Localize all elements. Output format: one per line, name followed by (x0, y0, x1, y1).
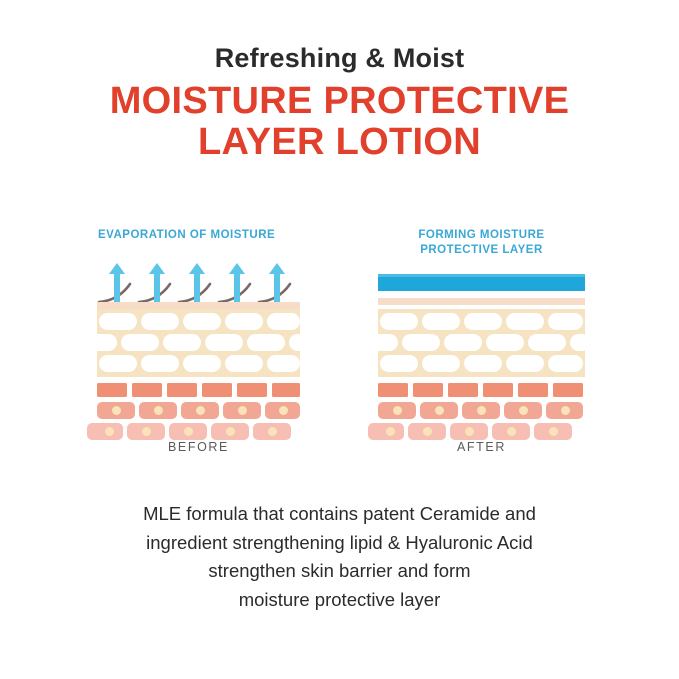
after-panel: FORMING MOISTURE PROTECTIVE LAYER (378, 228, 585, 434)
cell-nucleus (279, 406, 288, 415)
promo-page: Refreshing & Moist MOISTURE PROTECTIVE L… (0, 0, 679, 679)
cell-nucleus (423, 427, 432, 436)
granular-layer (97, 383, 300, 397)
salmon-cell (202, 383, 232, 397)
brick-cell (89, 334, 117, 351)
salmon-cell (272, 383, 300, 397)
brick-cell (183, 355, 221, 372)
skin-cell (127, 423, 165, 440)
after-caption: AFTER (378, 440, 585, 454)
brick-cell (183, 313, 221, 330)
brick-cell (267, 313, 300, 330)
brick-cell (506, 355, 544, 372)
cell-nucleus (561, 406, 570, 415)
title-line-1: MOISTURE PROTECTIVE (0, 81, 679, 122)
brick-cell (570, 334, 590, 351)
brick-cell (464, 355, 502, 372)
description-line-1: MLE formula that contains patent Ceramid… (0, 500, 679, 529)
brick-row (97, 355, 300, 372)
skin-surface-strip (378, 298, 585, 305)
skin-cell (450, 423, 488, 440)
skin-cell (420, 402, 458, 419)
brick-cell (141, 313, 179, 330)
spinous-layer (97, 402, 300, 419)
description-paragraph: MLE formula that contains patent Ceramid… (0, 500, 679, 615)
skin-cell (492, 423, 530, 440)
page-title: MOISTURE PROTECTIVE LAYER LOTION (0, 81, 679, 163)
salmon-cell (413, 383, 443, 397)
cell-nucleus (477, 406, 486, 415)
after-label: FORMING MOISTURE PROTECTIVE LAYER (378, 228, 585, 262)
before-panel: EVAPORATION OF MOISTURE (97, 228, 300, 434)
brick-cell (205, 334, 243, 351)
before-skin-diagram (97, 262, 300, 434)
cell-nucleus (238, 406, 247, 415)
moisture-barrier-bar (378, 274, 585, 291)
brick-cell (380, 313, 418, 330)
brick-cell (225, 355, 263, 372)
skin-cell (87, 423, 123, 440)
salmon-cell (448, 383, 478, 397)
brick-cell (99, 313, 137, 330)
skin-cell (211, 423, 249, 440)
skin-cell (169, 423, 207, 440)
description-line-3: strengthen skin barrier and form (0, 557, 679, 586)
brick-cell (548, 313, 583, 330)
skin-cell (253, 423, 291, 440)
brick-row (378, 313, 585, 330)
brick-cell (370, 334, 398, 351)
skin-cell (139, 402, 177, 419)
skin-cell (181, 402, 219, 419)
after-label-line-2: PROTECTIVE LAYER (378, 243, 585, 258)
brick-cell (528, 334, 566, 351)
spinous-layer (378, 402, 585, 419)
basal-layer (378, 423, 585, 440)
cell-nucleus (142, 427, 151, 436)
brick-cell (225, 313, 263, 330)
brick-cell (464, 313, 502, 330)
cell-nucleus (519, 406, 528, 415)
brick-row (378, 355, 585, 372)
cell-nucleus (196, 406, 205, 415)
cell-nucleus (435, 406, 444, 415)
brick-cell (247, 334, 285, 351)
cell-nucleus (184, 427, 193, 436)
description-line-2: ingredient strengthening lipid & Hyaluro… (0, 529, 679, 558)
brick-cell (99, 355, 137, 372)
cell-nucleus (465, 427, 474, 436)
cell-nucleus (507, 427, 516, 436)
salmon-cell (237, 383, 267, 397)
brick-cell (506, 313, 544, 330)
brick-cell (289, 334, 309, 351)
salmon-cell (518, 383, 548, 397)
skin-cell (408, 423, 446, 440)
salmon-cell (132, 383, 162, 397)
brick-cell (380, 355, 418, 372)
skin-cell (546, 402, 583, 419)
title-line-2: LAYER LOTION (0, 122, 679, 163)
brick-row (97, 313, 300, 330)
brick-cell (141, 355, 179, 372)
salmon-cell (483, 383, 513, 397)
brick-row (97, 334, 300, 351)
skin-cell (265, 402, 300, 419)
salmon-cell (167, 383, 197, 397)
brick-row (378, 334, 585, 351)
skin-cell (534, 423, 572, 440)
skin-surface-strip (97, 302, 300, 309)
cell-nucleus (112, 406, 121, 415)
salmon-cell (97, 383, 127, 397)
skin-cell (462, 402, 500, 419)
cell-nucleus (226, 427, 235, 436)
skin-cell (368, 423, 404, 440)
subtitle: Refreshing & Moist (0, 44, 679, 72)
basal-layer (97, 423, 300, 440)
skin-cell (223, 402, 261, 419)
skin-cell (378, 402, 416, 419)
after-skin-diagram (378, 262, 585, 434)
cell-nucleus (393, 406, 402, 415)
cell-nucleus (154, 406, 163, 415)
corneum-layer (378, 309, 585, 377)
skin-cell (504, 402, 542, 419)
brick-cell (548, 355, 583, 372)
comparison-diagrams: EVAPORATION OF MOISTURE (0, 228, 679, 468)
skin-cell (97, 402, 135, 419)
cell-nucleus (549, 427, 558, 436)
brick-cell (486, 334, 524, 351)
before-caption: BEFORE (97, 440, 300, 454)
salmon-cell (553, 383, 583, 397)
brick-cell (444, 334, 482, 351)
salmon-cell (378, 383, 408, 397)
corneum-layer (97, 309, 300, 377)
description-line-4: moisture protective layer (0, 586, 679, 615)
brick-cell (422, 313, 460, 330)
brick-cell (267, 355, 300, 372)
granular-layer (378, 383, 585, 397)
cell-nucleus (105, 427, 114, 436)
brick-cell (422, 355, 460, 372)
heading-block: Refreshing & Moist MOISTURE PROTECTIVE L… (0, 44, 679, 163)
brick-cell (402, 334, 440, 351)
brick-cell (163, 334, 201, 351)
before-label: EVAPORATION OF MOISTURE (97, 228, 300, 262)
after-label-line-1: FORMING MOISTURE (378, 228, 585, 243)
cell-nucleus (268, 427, 277, 436)
cell-nucleus (386, 427, 395, 436)
brick-cell (121, 334, 159, 351)
